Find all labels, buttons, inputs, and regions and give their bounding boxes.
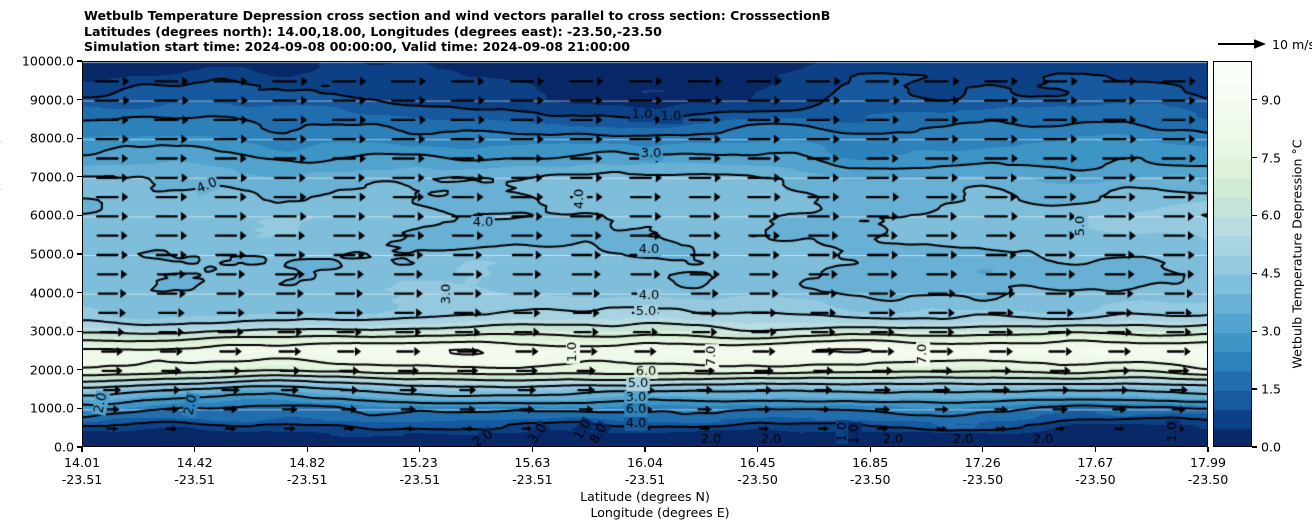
- y-axis-tick-label: 5000.0: [30, 247, 74, 262]
- x-axis-tick-label-longitude: -23.51: [62, 472, 103, 487]
- colorbar-tick-mark: [1252, 331, 1257, 332]
- cross-section-canvas: [83, 62, 1208, 447]
- x-axis-tick-label-latitude: 14.82: [289, 455, 325, 470]
- x-axis-tick-label-longitude: -23.51: [512, 472, 553, 487]
- x-axis-tick-mark: [982, 447, 983, 452]
- title-line-1: Wetbulb Temperature Depression cross sec…: [84, 8, 1084, 24]
- colorbar-tick-label: 6.0: [1261, 208, 1281, 223]
- colorbar-tick-mark: [1252, 99, 1257, 100]
- title-line-3: Simulation start time: 2024-09-08 00:00:…: [84, 39, 1084, 55]
- x-axis-tick-label-latitude: 15.23: [402, 455, 438, 470]
- x-axis-tick-label-longitude: -23.51: [287, 472, 328, 487]
- y-axis-label: Altitude (meters): [0, 138, 2, 245]
- colorbar-tick-label: 0.0: [1261, 440, 1281, 455]
- x-axis-tick-mark: [307, 447, 308, 452]
- x-axis-tick-mark: [644, 447, 645, 452]
- x-axis-tick-mark: [1207, 447, 1208, 452]
- x-axis-tick-label-latitude: 17.26: [965, 455, 1001, 470]
- y-axis-tick-label: 9000.0: [30, 92, 74, 107]
- x-axis-tick-label-longitude: -23.51: [174, 472, 215, 487]
- y-axis-tick-mark: [77, 138, 82, 139]
- y-axis-tick-label: 6000.0: [30, 208, 74, 223]
- y-axis-tick-mark: [77, 99, 82, 100]
- x-axis-tick-label-latitude: 16.04: [627, 455, 663, 470]
- colorbar-tick-label: 1.5: [1261, 382, 1281, 397]
- figure-root: Wetbulb Temperature Depression cross sec…: [0, 0, 1312, 526]
- x-axis-tick-label-longitude: -23.50: [737, 472, 778, 487]
- x-axis-tick-label-latitude: 15.63: [514, 455, 550, 470]
- x-axis-tick-mark: [870, 447, 871, 452]
- x-axis-tick-label-longitude: -23.50: [850, 472, 891, 487]
- x-axis-tick-label-latitude: 14.01: [64, 455, 100, 470]
- x-axis-tick-mark: [81, 447, 82, 452]
- y-axis-tick-mark: [77, 60, 82, 61]
- y-axis-tick-mark: [77, 253, 82, 254]
- colorbar-tick-label: 7.5: [1261, 150, 1281, 165]
- y-axis-tick-mark: [77, 215, 82, 216]
- title-line-2: Latitudes (degrees north): 14.00,18.00, …: [84, 24, 1084, 40]
- y-axis-tick-label: 3000.0: [30, 324, 74, 339]
- y-axis-tick-label: 7000.0: [30, 169, 74, 184]
- y-axis-tick-mark: [77, 331, 82, 332]
- y-axis-tick-mark: [77, 176, 82, 177]
- quiver-key-label: 10 m/s: [1272, 37, 1312, 52]
- y-axis-tick-mark: [77, 369, 82, 370]
- x-axis-tick-label-longitude: -23.51: [399, 472, 440, 487]
- colorbar-tick-label: 3.0: [1261, 324, 1281, 339]
- x-axis-tick-mark: [419, 447, 420, 452]
- cross-section-plot[interactable]: [82, 61, 1208, 447]
- colorbar-tick-label: 4.5: [1261, 266, 1281, 281]
- colorbar-canvas: [1214, 62, 1252, 447]
- x-axis-label-latitude: Latitude (degrees N): [580, 489, 710, 504]
- y-axis-tick-label: 2000.0: [30, 362, 74, 377]
- x-axis-tick-label-longitude: -23.50: [1188, 472, 1229, 487]
- y-axis-tick-label: 10000.0: [22, 54, 74, 69]
- x-axis-tick-mark: [1095, 447, 1096, 452]
- y-axis-tick-label: 4000.0: [30, 285, 74, 300]
- colorbar: [1213, 61, 1252, 447]
- colorbar-tick-mark: [1252, 388, 1257, 389]
- quiver-key: 10 m/s: [1216, 34, 1312, 56]
- colorbar-tick-mark: [1252, 446, 1257, 447]
- x-axis-tick-label-latitude: 16.45: [740, 455, 776, 470]
- x-axis-tick-label-latitude: 16.85: [852, 455, 888, 470]
- x-axis-tick-label-longitude: -23.50: [962, 472, 1003, 487]
- x-axis-tick-label-longitude: -23.50: [1075, 472, 1116, 487]
- colorbar-tick-mark: [1252, 273, 1257, 274]
- x-axis-tick-label-longitude: -23.51: [625, 472, 666, 487]
- y-axis-tick-label: 1000.0: [30, 401, 74, 416]
- colorbar-tick-mark: [1252, 215, 1257, 216]
- x-axis-tick-label-latitude: 17.99: [1190, 455, 1226, 470]
- figure-title: Wetbulb Temperature Depression cross sec…: [84, 8, 1084, 55]
- x-axis-label-longitude: Longitude (degrees E): [590, 505, 729, 520]
- y-axis-tick-label: 0.0: [54, 440, 74, 455]
- x-axis-tick-label-latitude: 14.42: [177, 455, 213, 470]
- y-axis-tick-mark: [77, 292, 82, 293]
- x-axis-tick-mark: [532, 447, 533, 452]
- x-axis-tick-mark: [757, 447, 758, 452]
- x-axis-tick-label-latitude: 17.67: [1077, 455, 1113, 470]
- y-axis-tick-label: 8000.0: [30, 131, 74, 146]
- x-axis-tick-mark: [194, 447, 195, 452]
- colorbar-label: Wetbulb Temperature Depression °C: [1290, 139, 1305, 368]
- y-axis-tick-mark: [77, 408, 82, 409]
- colorbar-tick-label: 9.0: [1261, 92, 1281, 107]
- colorbar-tick-mark: [1252, 157, 1257, 158]
